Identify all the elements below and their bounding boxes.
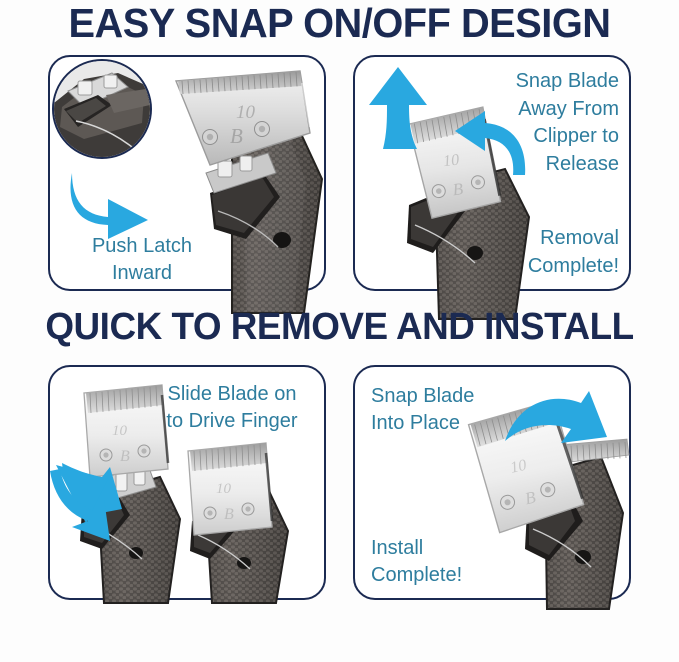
page-title-primary: EASY SNAP ON/OFF DESIGN [10,0,669,47]
page-title-secondary: QUICK TO REMOVE AND INSTALL [10,304,669,350]
step-panel-slide-blade: 10 B [48,365,326,600]
svg-text:B: B [224,506,234,523]
svg-text:10: 10 [216,481,232,497]
caption-push-latch: Push Latch Inward [52,233,232,287]
caption-slide-blade: Slide Blade on to Drive Finger [142,381,322,435]
curved-arrow-right-down-icon [66,167,152,239]
latch-closeup-circle [52,59,152,159]
caption-snap-blade-away: Snap Blade Away From Clipper to Release [447,68,619,178]
caption-install-complete: Install Complete! [371,535,541,589]
step-panel-snap-blade-away: 10 B Snap Blade Away From Clipper to Rel… [353,55,631,291]
arrow-up-icon [367,67,429,149]
svg-text:10: 10 [236,102,256,123]
svg-text:B: B [230,124,243,148]
caption-removal-complete: Removal Complete! [447,225,619,280]
caption-snap-into-place: Snap Blade Into Place [371,383,541,437]
svg-text:10: 10 [112,423,128,439]
arrow-down-left-icon [48,461,124,543]
step-panel-snap-into-place: 10 B Snap Blade Into Place Install Compl… [353,365,631,600]
step-panel-push-latch: 10 B [48,55,326,291]
